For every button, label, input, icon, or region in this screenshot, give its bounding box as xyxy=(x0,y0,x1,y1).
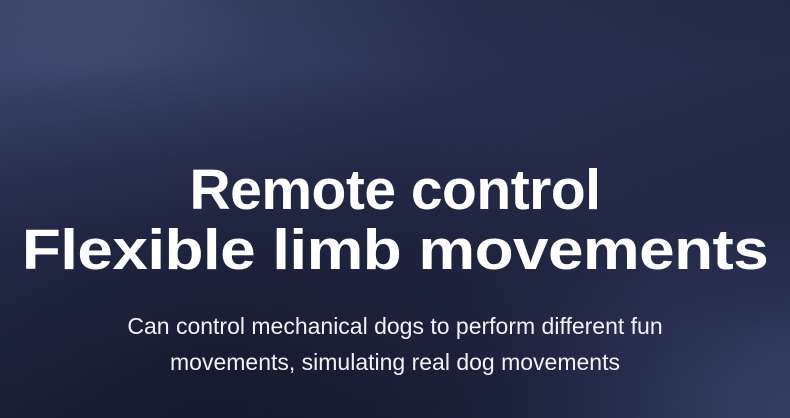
promo-banner: Remote control Flexible limb movements C… xyxy=(0,0,790,418)
subheadline-line-1: Can control mechanical dogs to perform d… xyxy=(0,308,790,344)
subheadline-line-2: movements, simulating real dog movements xyxy=(0,344,790,380)
banner-content: Remote control Flexible limb movements C… xyxy=(0,0,790,418)
banner-headline: Remote control Flexible limb movements xyxy=(0,0,790,280)
headline-line-1: Remote control xyxy=(0,160,790,220)
headline-line-2: Flexible limb movements xyxy=(0,220,790,280)
banner-subheadline: Can control mechanical dogs to perform d… xyxy=(0,308,790,380)
